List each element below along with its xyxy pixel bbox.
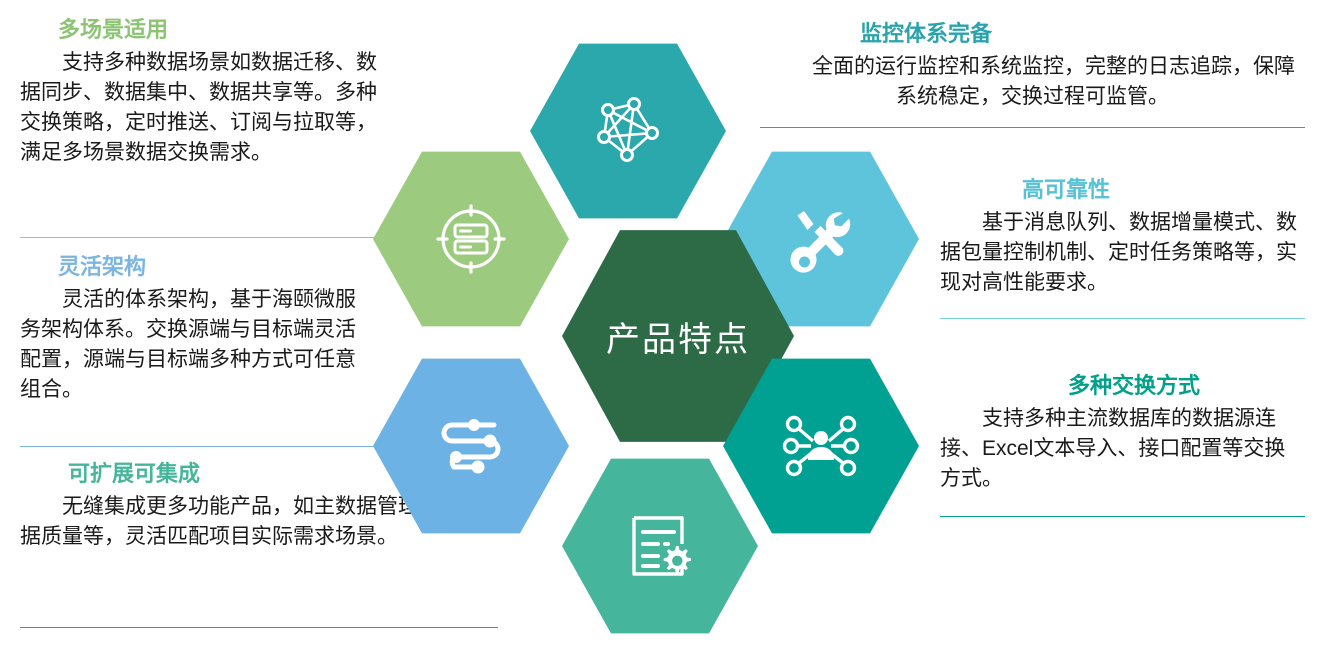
feature-body-high-reliability: 基于消息队列、数据增量模式、数据包量控制机制、定时任务策略等，实现对高性能要求。 — [940, 208, 1305, 297]
document-gear-icon — [624, 510, 696, 582]
divider-extensible-integration — [20, 627, 498, 628]
center-title: 产品特点 — [606, 312, 750, 361]
divider-monitoring-system — [760, 127, 1305, 128]
hex-multi-scenario[interactable] — [373, 148, 569, 330]
feature-block-high-reliability: 高可靠性 基于消息队列、数据增量模式、数据包量控制机制、定时任务策略等，实现对高… — [940, 178, 1305, 298]
feature-body-exchange-methods: 支持多种主流数据库的数据源连接、Excel文本导入、接口配置等交换方式。 — [940, 404, 1305, 493]
feature-body-monitoring-system: 全面的运行监控和系统监控，完整的日志追踪，保障系统稳定，交换过程可监管。 — [760, 52, 1305, 112]
divider-high-reliability — [940, 318, 1305, 319]
tools-icon — [783, 201, 859, 277]
user-network-icon — [782, 412, 860, 480]
divider-exchange-methods — [940, 516, 1305, 517]
feature-heading-high-reliability: 高可靠性 — [940, 178, 1305, 202]
hex-monitoring-system[interactable] — [530, 40, 726, 222]
feature-heading-monitoring-system: 监控体系完备 — [760, 22, 1305, 46]
divider-multi-scenario — [20, 237, 390, 238]
feature-block-flexible-architecture: 灵活架构 灵活的体系架构，基于海颐微服务架构体系。交换源端与目标端灵活配置，源端… — [20, 255, 365, 404]
feature-block-multi-scenario: 多场景适用 支持多种数据场景如数据迁移、数据同步、数据集中、数据共享等。多种交换… — [20, 18, 380, 167]
network-graph-icon — [590, 95, 666, 167]
feature-heading-flexible-architecture: 灵活架构 — [20, 255, 365, 279]
feature-body-multi-scenario: 支持多种数据场景如数据迁移、数据同步、数据集中、数据共享等。多种交换策略，定时推… — [20, 48, 380, 167]
feature-heading-multi-scenario: 多场景适用 — [20, 18, 380, 42]
feature-block-monitoring-system: 监控体系完备 全面的运行监控和系统监控，完整的日志追踪，保障系统稳定，交换过程可… — [760, 22, 1305, 112]
target-server-icon — [430, 198, 512, 280]
feature-block-exchange-methods: 多种交换方式 支持多种主流数据库的数据源连接、Excel文本导入、接口配置等交换… — [940, 374, 1305, 494]
feature-body-flexible-architecture: 灵活的体系架构，基于海颐微服务架构体系。交换源端与目标端灵活配置，源端与目标端多… — [20, 285, 365, 404]
feature-heading-exchange-methods: 多种交换方式 — [940, 374, 1305, 398]
divider-flexible-architecture — [20, 446, 390, 447]
hex-extensible-integration[interactable] — [562, 455, 758, 637]
flow-path-icon — [434, 415, 508, 477]
infographic-canvas: 多场景适用 支持多种数据场景如数据迁移、数据同步、数据集中、数据共享等。多种交换… — [0, 0, 1325, 658]
